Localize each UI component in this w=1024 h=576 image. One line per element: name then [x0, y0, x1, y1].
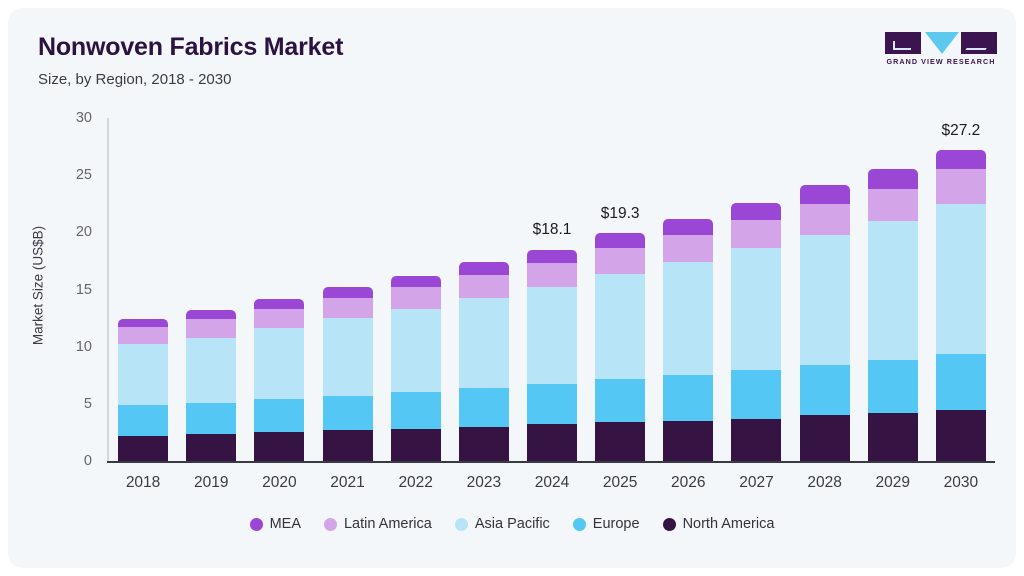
bar-segment-europe[interactable]	[595, 379, 645, 422]
chart-card: Nonwoven Fabrics Market Size, by Region,…	[8, 8, 1016, 568]
bar-segment-latin-america[interactable]	[459, 275, 509, 298]
legend-swatch-icon	[663, 518, 676, 531]
bar-segment-europe[interactable]	[459, 388, 509, 427]
bar-segment-asia-pacific[interactable]	[731, 248, 781, 369]
legend-item-asia-pacific[interactable]: Asia Pacific	[455, 516, 550, 532]
bar-segment-north-america[interactable]	[595, 422, 645, 461]
y-tick-label: 20	[48, 224, 92, 240]
legend-label: North America	[683, 516, 775, 532]
bar-segment-latin-america[interactable]	[800, 204, 850, 235]
bar-segment-north-america[interactable]	[868, 413, 918, 461]
bar-value-label: $27.2	[916, 122, 1006, 140]
bar-value-label: $18.1	[507, 221, 597, 239]
bar-segment-mea[interactable]	[595, 233, 645, 248]
bar-segment-latin-america[interactable]	[663, 235, 713, 262]
bar-segment-europe[interactable]	[800, 365, 850, 415]
bar-segment-europe[interactable]	[186, 403, 236, 434]
bar-series-container	[109, 118, 995, 461]
bar-segment-europe[interactable]	[527, 384, 577, 424]
bar-segment-mea[interactable]	[800, 185, 850, 203]
bar-segment-mea[interactable]	[936, 150, 986, 169]
bar-segment-asia-pacific[interactable]	[118, 344, 168, 405]
bar-segment-europe[interactable]	[663, 375, 713, 421]
bar-segment-latin-america[interactable]	[868, 189, 918, 221]
y-tick-label: 10	[48, 339, 92, 355]
bar-segment-mea[interactable]	[186, 310, 236, 319]
bar-segment-latin-america[interactable]	[936, 169, 986, 203]
bar-segment-mea[interactable]	[868, 169, 918, 188]
bar-segment-latin-america[interactable]	[731, 220, 781, 249]
legend-item-latin-america[interactable]: Latin America	[324, 516, 432, 532]
bar-segment-north-america[interactable]	[731, 419, 781, 461]
bar-segment-asia-pacific[interactable]	[254, 328, 304, 399]
legend-swatch-icon	[250, 518, 263, 531]
bar-segment-mea[interactable]	[527, 250, 577, 264]
bar-segment-asia-pacific[interactable]	[663, 262, 713, 375]
bar-segment-mea[interactable]	[254, 299, 304, 309]
legend-item-north-america[interactable]: North America	[663, 516, 775, 532]
bar-segment-latin-america[interactable]	[391, 287, 441, 309]
bar-segment-europe[interactable]	[323, 396, 373, 430]
bar-segment-mea[interactable]	[323, 287, 373, 297]
bar-segment-latin-america[interactable]	[527, 263, 577, 287]
legend-swatch-icon	[573, 518, 586, 531]
bar-segment-asia-pacific[interactable]	[391, 309, 441, 392]
bar-segment-mea[interactable]	[118, 319, 168, 327]
y-tick-label: 30	[48, 110, 92, 126]
bar-segment-north-america[interactable]	[186, 434, 236, 461]
bar-segment-mea[interactable]	[663, 219, 713, 235]
bar-segment-asia-pacific[interactable]	[868, 221, 918, 360]
bar-segment-europe[interactable]	[118, 405, 168, 436]
chart-legend: MEALatin AmericaAsia PacificEuropeNorth …	[8, 516, 1016, 532]
bar-segment-north-america[interactable]	[936, 410, 986, 461]
bar-value-label: $19.3	[575, 205, 665, 223]
bar-segment-north-america[interactable]	[118, 436, 168, 461]
bar-segment-mea[interactable]	[459, 262, 509, 275]
bar-segment-latin-america[interactable]	[254, 309, 304, 328]
legend-label: MEA	[270, 516, 301, 532]
x-axis-line	[107, 461, 995, 463]
bar-segment-asia-pacific[interactable]	[936, 204, 986, 354]
bar-segment-north-america[interactable]	[663, 421, 713, 461]
bar-segment-north-america[interactable]	[527, 424, 577, 461]
bar-segment-latin-america[interactable]	[323, 298, 373, 319]
y-axis-title: Market Size (US$B)	[31, 106, 46, 466]
legend-swatch-icon	[324, 518, 337, 531]
bar-segment-europe[interactable]	[254, 399, 304, 432]
bar-segment-latin-america[interactable]	[186, 319, 236, 337]
bar-segment-mea[interactable]	[391, 276, 441, 287]
bar-segment-north-america[interactable]	[323, 430, 373, 461]
legend-label: Europe	[593, 516, 640, 532]
legend-item-mea[interactable]: MEA	[250, 516, 301, 532]
y-tick-label: 15	[48, 282, 92, 298]
bar-segment-latin-america[interactable]	[595, 248, 645, 273]
legend-swatch-icon	[455, 518, 468, 531]
bar-segment-north-america[interactable]	[391, 429, 441, 461]
bar-segment-asia-pacific[interactable]	[527, 287, 577, 384]
bar-segment-europe[interactable]	[868, 360, 918, 413]
legend-label: Latin America	[344, 516, 432, 532]
bar-segment-asia-pacific[interactable]	[800, 235, 850, 365]
bar-segment-mea[interactable]	[731, 203, 781, 220]
legend-label: Asia Pacific	[475, 516, 550, 532]
bar-segment-europe[interactable]	[391, 392, 441, 429]
bar-segment-latin-america[interactable]	[118, 327, 168, 344]
bar-segment-asia-pacific[interactable]	[459, 298, 509, 388]
y-tick-label: 5	[48, 396, 92, 412]
bar-segment-asia-pacific[interactable]	[595, 274, 645, 379]
bar-segment-north-america[interactable]	[459, 427, 509, 461]
legend-item-europe[interactable]: Europe	[573, 516, 640, 532]
y-tick-label: 0	[48, 453, 92, 469]
bar-segment-europe[interactable]	[731, 370, 781, 419]
bar-segment-asia-pacific[interactable]	[186, 338, 236, 403]
bar-segment-north-america[interactable]	[800, 415, 850, 461]
y-tick-label: 25	[48, 167, 92, 183]
chart-plot-area: Market Size (US$B) 051015202530 20182019…	[8, 8, 1016, 568]
bar-segment-asia-pacific[interactable]	[323, 318, 373, 396]
bar-segment-north-america[interactable]	[254, 432, 304, 461]
x-tick-label: 2030	[916, 474, 1006, 492]
bar-segment-europe[interactable]	[936, 354, 986, 410]
